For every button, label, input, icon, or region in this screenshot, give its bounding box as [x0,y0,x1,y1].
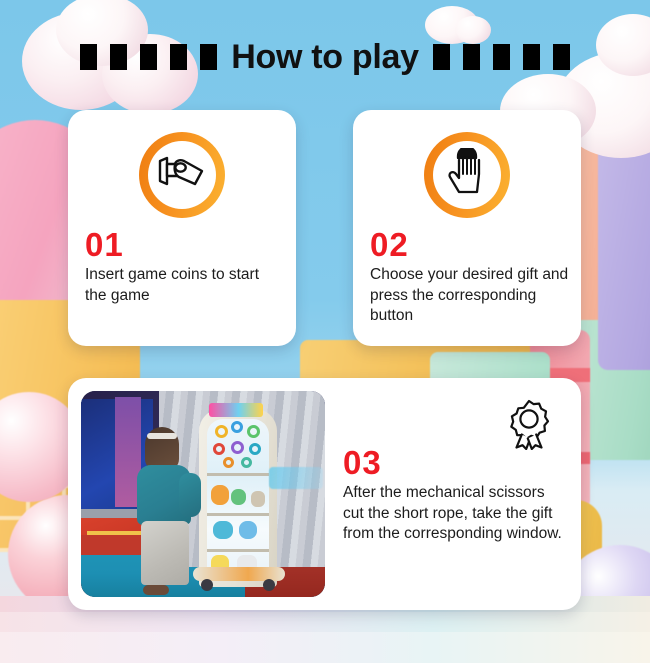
step-02-description: Choose your desired gift and press the c… [370,265,569,327]
photo-shelf-line [207,513,269,516]
step-card-03: 03 After the mechanical scissors cut the… [68,378,581,610]
photo-prize-plush [211,485,229,505]
bg-lavender-block-right [598,140,650,370]
award-ribbon-icon [505,398,553,450]
photo-prize-plush [213,521,233,539]
step-03-number: 03 [343,446,563,479]
photo-child-headband [147,433,177,439]
page-title-row: How to play [0,32,650,82]
step-02-icon-ring [424,132,510,218]
photo-prize-plush [231,489,246,505]
step-02-number: 02 [370,228,569,261]
photo-prize-plush [251,491,265,507]
photo-prize-ring [231,421,243,433]
step-card-01: 01 Insert game coins to start the game [68,110,296,346]
title-squares-left [80,44,217,70]
photo-shelf-line [207,473,269,476]
photo-prize-plush [239,521,257,539]
step-03-text-block: 03 After the mechanical scissors cut the… [343,446,563,545]
photo-shelf-line [207,549,269,552]
step-01-text-block: 01 Insert game coins to start the game [85,228,284,306]
step-02-text-block: 02 Choose your desired gift and press th… [370,228,569,327]
step-03-description: After the mechanical scissors cut the sh… [343,483,563,545]
bg-ground-band-3 [0,632,650,663]
photo-prize-ring [241,457,252,468]
photo-machine-wheel [263,579,275,591]
photo-prize-ring [249,443,261,455]
photo-prize-ring [215,425,228,438]
title-square [80,44,97,70]
step-01-icon-ring [139,132,225,218]
title-square [493,44,510,70]
hand-inserting-coin-icon [155,150,209,201]
photo-prize-ring [213,443,225,455]
step-01-description: Insert game coins to start the game [85,265,284,306]
bg-ground-band-2 [0,612,650,632]
photo-glow-text [269,467,323,489]
photo-child-arm [179,473,201,517]
title-square [463,44,480,70]
title-square [433,44,450,70]
title-square [110,44,127,70]
title-square [523,44,540,70]
hand-press-button-icon [445,148,489,203]
title-square [553,44,570,70]
child-at-prize-vending-machine-photo [81,391,325,597]
page-title: How to play [231,38,419,77]
title-squares-right [433,44,570,70]
title-square [200,44,217,70]
step-card-02: 02 Choose your desired gift and press th… [353,110,581,346]
photo-machine-sign [209,403,263,417]
photo-prize-ring [231,441,244,454]
photo-child-shoe [143,585,169,595]
title-square [140,44,157,70]
photo-machine-wheel [201,579,213,591]
step-01-number: 01 [85,228,284,261]
photo-prize-ring [223,457,234,468]
title-square [170,44,187,70]
photo-child-pants [141,521,189,585]
photo-prize-ring [247,425,260,438]
